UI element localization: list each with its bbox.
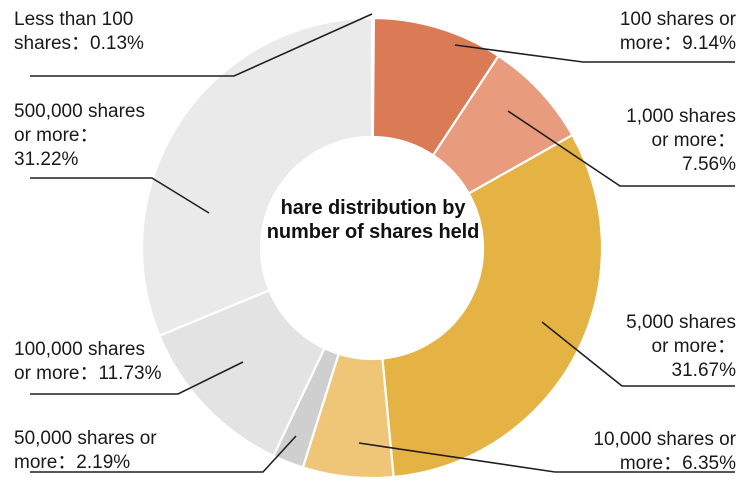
callout-label-1k: 1,000 shares or more： 7.56% <box>546 105 736 177</box>
donut-slices <box>142 18 602 478</box>
callout-label-100: 100 shares or more：9.14% <box>521 8 736 56</box>
donut-slice-5-000-shares-or-more[interactable] <box>382 135 602 477</box>
donut-svg <box>0 0 750 500</box>
callout-label-500k: 500,000 shares or more： 31.22% <box>14 100 219 172</box>
donut-chart: hare distribution by number of shares he… <box>0 0 750 500</box>
callout-label-100k: 100,000 shares or more：11.73% <box>14 338 249 386</box>
chart-center-title: hare distribution by number of shares he… <box>262 196 484 245</box>
callout-label-10k: 10,000 shares or more：6.35% <box>521 428 736 476</box>
callout-label-less-than-100: Less than 100 shares：0.13% <box>14 8 234 56</box>
callout-label-50k: 50,000 shares or more：2.19% <box>14 427 234 475</box>
callout-label-5k: 5,000 shares or more： 31.67% <box>546 311 736 383</box>
